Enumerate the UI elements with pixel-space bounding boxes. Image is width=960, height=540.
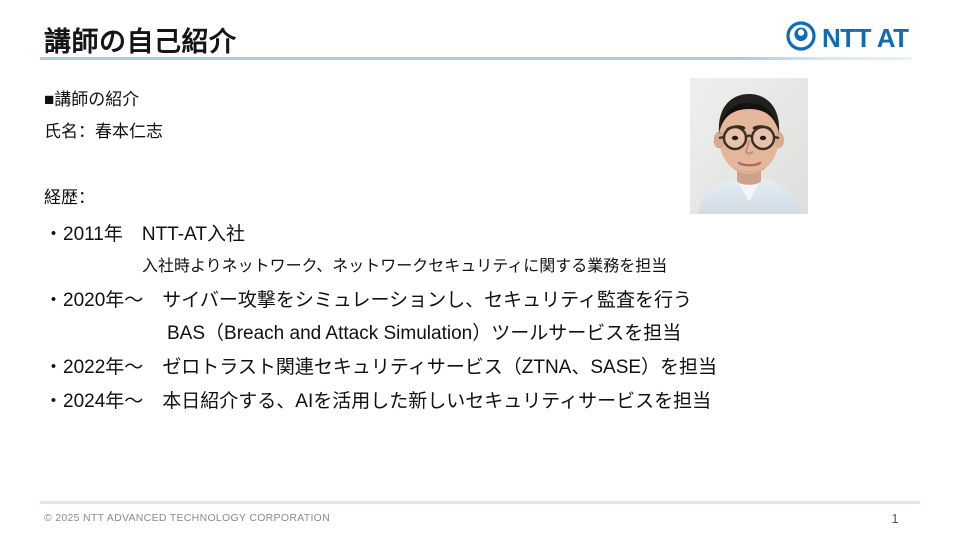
- section-lead-label: ■講師の紹介: [44, 90, 139, 110]
- presentation-slide: 講師の自己紹介 NTT AT ■講師の紹介 氏名：春本仁志 経歴： ・2011年…: [0, 0, 960, 540]
- career-item-main: ・2022年～ ゼロトラスト関連セキュリティサービス（ZTNA、SASE）を担当: [44, 357, 717, 380]
- instructor-name-line: 氏名：春本仁志: [44, 122, 163, 142]
- career-item-main: ・2020年～ サイバー攻撃をシミュレーションし、セキュリティ監査を行う: [44, 290, 692, 313]
- ntt-at-logo: NTT AT: [786, 20, 909, 56]
- footer-copyright: © 2025 NTT ADVANCED TECHNOLOGY CORPORATI…: [44, 512, 330, 524]
- career-heading: 経歴：: [44, 188, 95, 208]
- logo-wordmark: NTT AT: [822, 25, 909, 51]
- career-item-sub: 入社時よりネットワーク、ネットワークセキュリティに関する業務を担当: [142, 257, 667, 276]
- career-item-main: ・2011年 NTT-AT入社: [44, 224, 245, 247]
- career-item-sub: BAS（Breach and Attack Simulation）ツールサービス…: [167, 323, 681, 346]
- page-title: 講師の自己紹介: [44, 20, 237, 59]
- page-number: 1: [880, 511, 910, 526]
- career-item-main: ・2024年～ 本日紹介する、AIを活用した新しいセキュリティサービスを担当: [44, 391, 711, 414]
- instructor-portrait-photo: [690, 78, 808, 214]
- footer-divider: [40, 501, 920, 504]
- title-underline-rule-fade: [736, 57, 912, 60]
- ntt-circle-mark-icon: [786, 21, 816, 56]
